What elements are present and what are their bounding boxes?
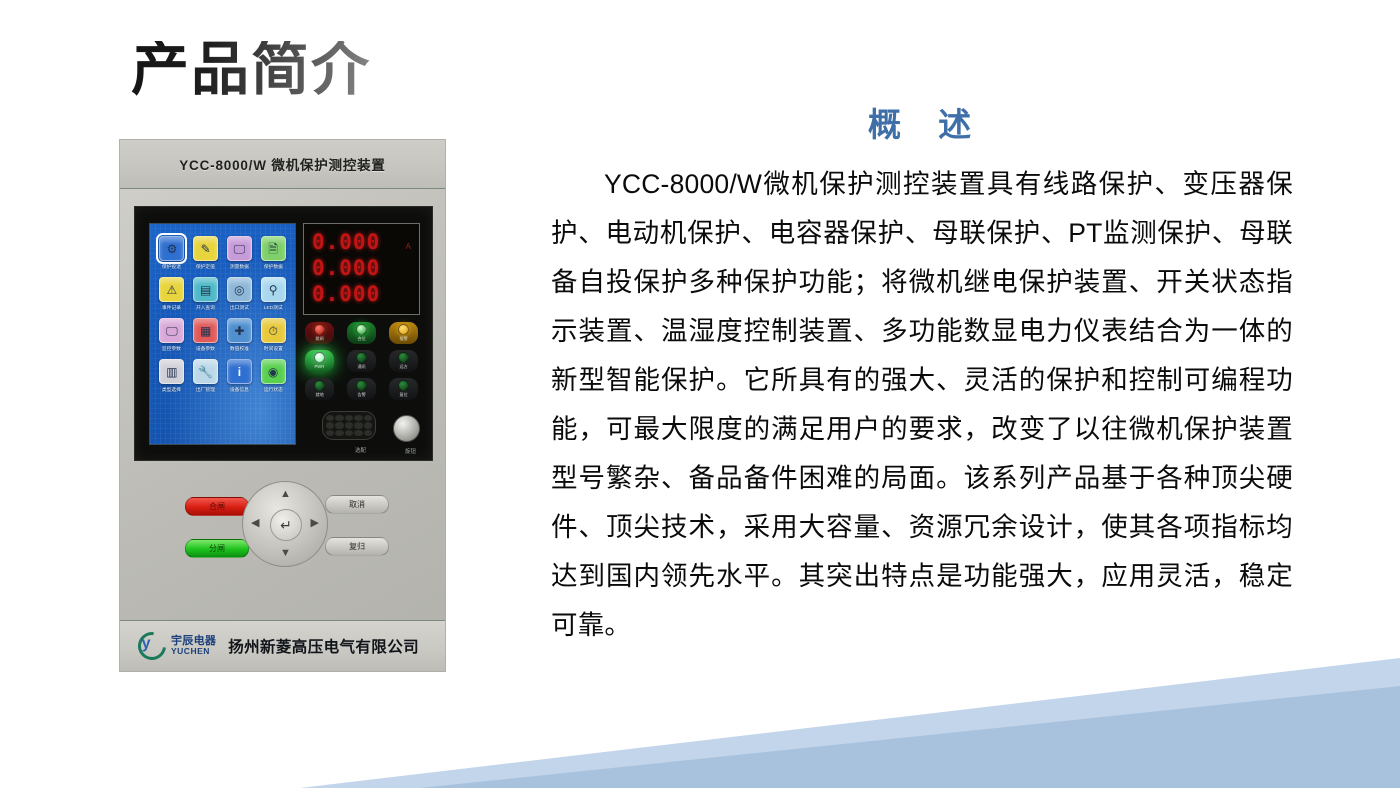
input-query-icon: ▤ [193, 277, 218, 302]
overview-body-text: YCC-8000/W微机保护测控装置具有线路保护、变压器保护、电动机保护、电容器… [551, 160, 1293, 650]
lcd-menu-item[interactable]: ▥ 类型选择 [156, 359, 188, 393]
lcd-menu-label: 测量数据 [230, 263, 249, 269]
overview-heading: 概 述 [868, 98, 985, 146]
lcd-menu-label: 时间设置 [264, 345, 283, 351]
lcd-menu-label: 数值校准 [230, 345, 249, 351]
navigation-dpad[interactable]: ▲ ▼ ◀ ▶ ↵ [242, 481, 328, 567]
lcd-menu-item[interactable]: i 设备信息 [224, 359, 256, 393]
event-log-icon: ⚠ [159, 277, 184, 302]
lcd-menu-label: 出厂管理 [196, 386, 215, 392]
brand-name-en: YUCHEN [171, 647, 216, 656]
lamp-label: 报警 [399, 336, 407, 341]
lcd-menu-item[interactable]: ◎ 出口测试 [224, 277, 256, 311]
lcd-menu-label: 监控参数 [162, 345, 181, 351]
lamp-bulb-icon [314, 352, 325, 363]
lcd-menu-item[interactable]: 🖵 测量数据 [224, 236, 256, 270]
lcd-menu-item[interactable]: ⚲ LED测试 [257, 277, 289, 311]
lcd-menu-label: 运行状态 [264, 386, 283, 392]
power-indicator-lamp: PWR [305, 350, 334, 372]
lcd-menu-item[interactable]: 🖵 监控参数 [156, 318, 188, 352]
trip-breaker-button[interactable]: 分闸 [185, 539, 249, 558]
led-digital-meter: 0.000 A 0.000 0.000 [303, 223, 420, 315]
lcd-menu-item[interactable]: ⚙ 保护投退 [156, 236, 188, 270]
type-select-icon: ▥ [159, 359, 184, 384]
lcd-menu-item[interactable]: ✎ 保护定值 [190, 236, 222, 270]
lcd-menu-label: 保护数据 [264, 263, 283, 269]
led-test-icon: ⚲ [261, 277, 286, 302]
brand-text-block: 宇辰电器 YUCHEN [171, 636, 216, 656]
lamp-label: 告警 [357, 392, 365, 397]
lcd-menu-label: 类型选择 [162, 386, 181, 392]
lamp-label: 跳闸 [316, 336, 324, 341]
knob-label: 旋钮 [405, 447, 416, 455]
lcd-menu-label: 出口测试 [230, 304, 249, 310]
yuchen-logo-icon [132, 626, 171, 665]
lcd-menu-item[interactable]: ⏱ 时间设置 [257, 318, 289, 352]
output-test-icon: ◎ [227, 277, 252, 302]
lcd-menu-item[interactable]: 🔧 出厂管理 [190, 359, 222, 393]
lamp-bulb-icon [314, 324, 325, 335]
meter-value: 0.000 [312, 282, 408, 306]
protection-setting-icon: ✎ [193, 236, 218, 261]
arrow-right-icon[interactable]: ▶ [311, 518, 319, 529]
lcd-menu-grid: ⚙ 保护投退 ✎ 保护定值 🖵 测量数据 🗎 保护数据 ⚠ 事件记录 [156, 236, 289, 393]
time-setting-icon: ⏱ [261, 318, 286, 343]
indicator-lamp-grid: 跳闸 合位 报警 PWR 通讯 远方 就地 告警 复位 [299, 322, 424, 400]
meter-row: 0.000 [312, 282, 411, 308]
lamp-bulb-icon [356, 352, 367, 363]
factory-admin-icon: 🔧 [193, 359, 218, 384]
company-name: 扬州新菱高压电气有限公司 [228, 635, 419, 657]
calibration-icon: ✚ [227, 318, 252, 343]
device-header: YCC-8000/W 微机保护测控装置 [120, 140, 445, 189]
lcd-menu-item[interactable]: ⚠ 事件记录 [156, 277, 188, 311]
protection-data-icon: 🗎 [261, 236, 286, 261]
arrow-down-icon[interactable]: ▼ [280, 548, 291, 559]
lcd-menu-label: 事件记录 [162, 304, 181, 310]
speaker-grille-icon [322, 411, 376, 440]
measurement-data-icon: 🖵 [227, 236, 252, 261]
close-indicator-lamp: 合位 [347, 322, 376, 344]
page-title: 产品简介 [131, 41, 371, 99]
lamp-label: 合位 [357, 336, 365, 341]
device-photo: YCC-8000/W 微机保护测控装置 ⚙ 保护投退 ✎ 保护定值 🖵 测量数据 [119, 139, 446, 672]
monitor-param-icon: 🖵 [159, 318, 184, 343]
comm-indicator-lamp: 通讯 [347, 350, 376, 372]
alarm-indicator-lamp: 报警 [389, 322, 418, 344]
protection-enable-icon: ⚙ [159, 236, 184, 261]
cancel-button[interactable]: 取消 [325, 495, 389, 514]
lamp-label: 复位 [399, 392, 407, 397]
lamp-bulb-icon [356, 324, 367, 335]
local-indicator-lamp: 就地 [305, 378, 334, 400]
device-keypad: 合闸 分闸 取消 复归 ▲ ▼ ◀ ▶ ↵ [120, 463, 445, 611]
lamp-label: PWR [315, 364, 325, 369]
arrow-left-icon[interactable]: ◀ [251, 518, 259, 529]
enter-button[interactable]: ↵ [270, 509, 302, 541]
remote-indicator-lamp: 远方 [389, 350, 418, 372]
lamp-bulb-icon [398, 324, 409, 335]
lcd-menu-item[interactable]: ✚ 数值校准 [224, 318, 256, 352]
lcd-menu-item[interactable]: ▦ 设备参数 [190, 318, 222, 352]
meter-value: 0.000 [312, 256, 408, 280]
warning-indicator-lamp: 告警 [347, 378, 376, 400]
meter-row: 0.000 A [312, 230, 411, 256]
run-status-icon: ◉ [261, 359, 286, 384]
lamp-label: 远方 [399, 364, 407, 369]
lcd-menu-label: 保护定值 [196, 263, 215, 269]
lcd-menu-label: LED测试 [264, 304, 283, 310]
meter-unit: A [406, 242, 411, 251]
reset-indicator-lamp: 复位 [389, 378, 418, 400]
lamp-bulb-icon [314, 380, 325, 391]
device-param-icon: ▦ [193, 318, 218, 343]
meter-value: 0.000 [312, 230, 403, 254]
speaker-label: 选配 [355, 446, 366, 454]
lcd-menu-label: 保护投退 [162, 263, 181, 269]
device-bezel: ⚙ 保护投退 ✎ 保护定值 🖵 测量数据 🗎 保护数据 ⚠ 事件记录 [134, 206, 433, 461]
arrow-up-icon[interactable]: ▲ [280, 489, 291, 500]
rotary-knob[interactable] [393, 415, 420, 442]
lcd-menu-item[interactable]: ◉ 运行状态 [257, 359, 289, 393]
device-lcd-screen[interactable]: ⚙ 保护投退 ✎ 保护定值 🖵 测量数据 🗎 保护数据 ⚠ 事件记录 [149, 223, 296, 445]
reset-button[interactable]: 复归 [325, 537, 389, 556]
lcd-menu-label: 设备信息 [230, 386, 249, 392]
device-brand-footer: 宇辰电器 YUCHEN 扬州新菱高压电气有限公司 [120, 620, 445, 671]
lcd-menu-item[interactable]: ▤ 开入查询 [190, 277, 222, 311]
lcd-menu-label: 开入查询 [196, 304, 215, 310]
device-info-icon: i [227, 359, 252, 384]
close-breaker-button[interactable]: 合闸 [185, 497, 249, 516]
trip-indicator-lamp: 跳闸 [305, 322, 334, 344]
device-model-label: YCC-8000/W 微机保护测控装置 [179, 154, 385, 174]
lamp-label: 就地 [316, 392, 324, 397]
lamp-bulb-icon [398, 380, 409, 391]
lamp-bulb-icon [398, 352, 409, 363]
lamp-bulb-icon [356, 380, 367, 391]
lcd-menu-item[interactable]: 🗎 保护数据 [257, 236, 289, 270]
bottom-ribbon-decoration [0, 658, 1400, 788]
meter-row: 0.000 [312, 256, 411, 282]
lamp-label: 通讯 [357, 364, 365, 369]
ribbon-light-band [300, 658, 1400, 788]
lcd-menu-label: 设备参数 [196, 345, 215, 351]
ribbon-dark-band [420, 686, 1400, 788]
